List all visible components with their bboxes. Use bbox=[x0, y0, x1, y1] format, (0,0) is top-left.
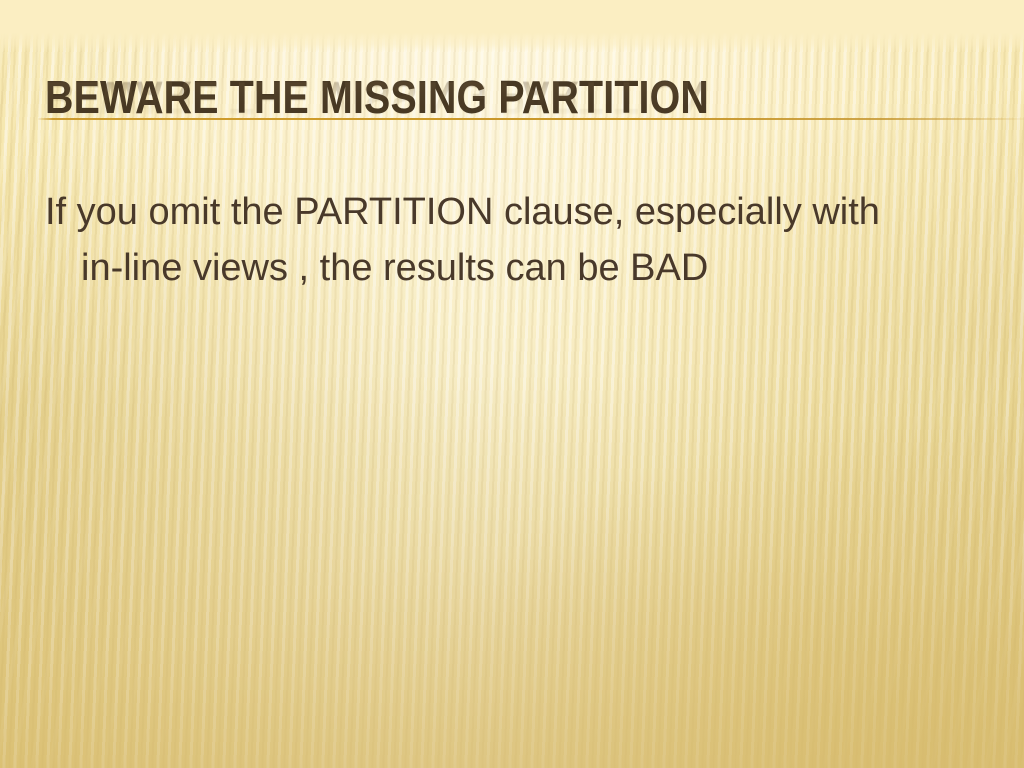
body-line-1: If you omit the PARTITION clause, especi… bbox=[45, 184, 995, 240]
body-line-2: in-line views , the results can be BAD bbox=[45, 240, 995, 296]
presentation-slide: BEWARE THE MISSING PARTITION BEWARE THE … bbox=[0, 0, 1024, 768]
slide-title-block: BEWARE THE MISSING PARTITION BEWARE THE … bbox=[45, 74, 985, 174]
title-divider-rule bbox=[38, 118, 1024, 120]
slide-title: BEWARE THE MISSING PARTITION bbox=[45, 74, 849, 120]
slide-body-block: If you omit the PARTITION clause, especi… bbox=[45, 184, 995, 296]
